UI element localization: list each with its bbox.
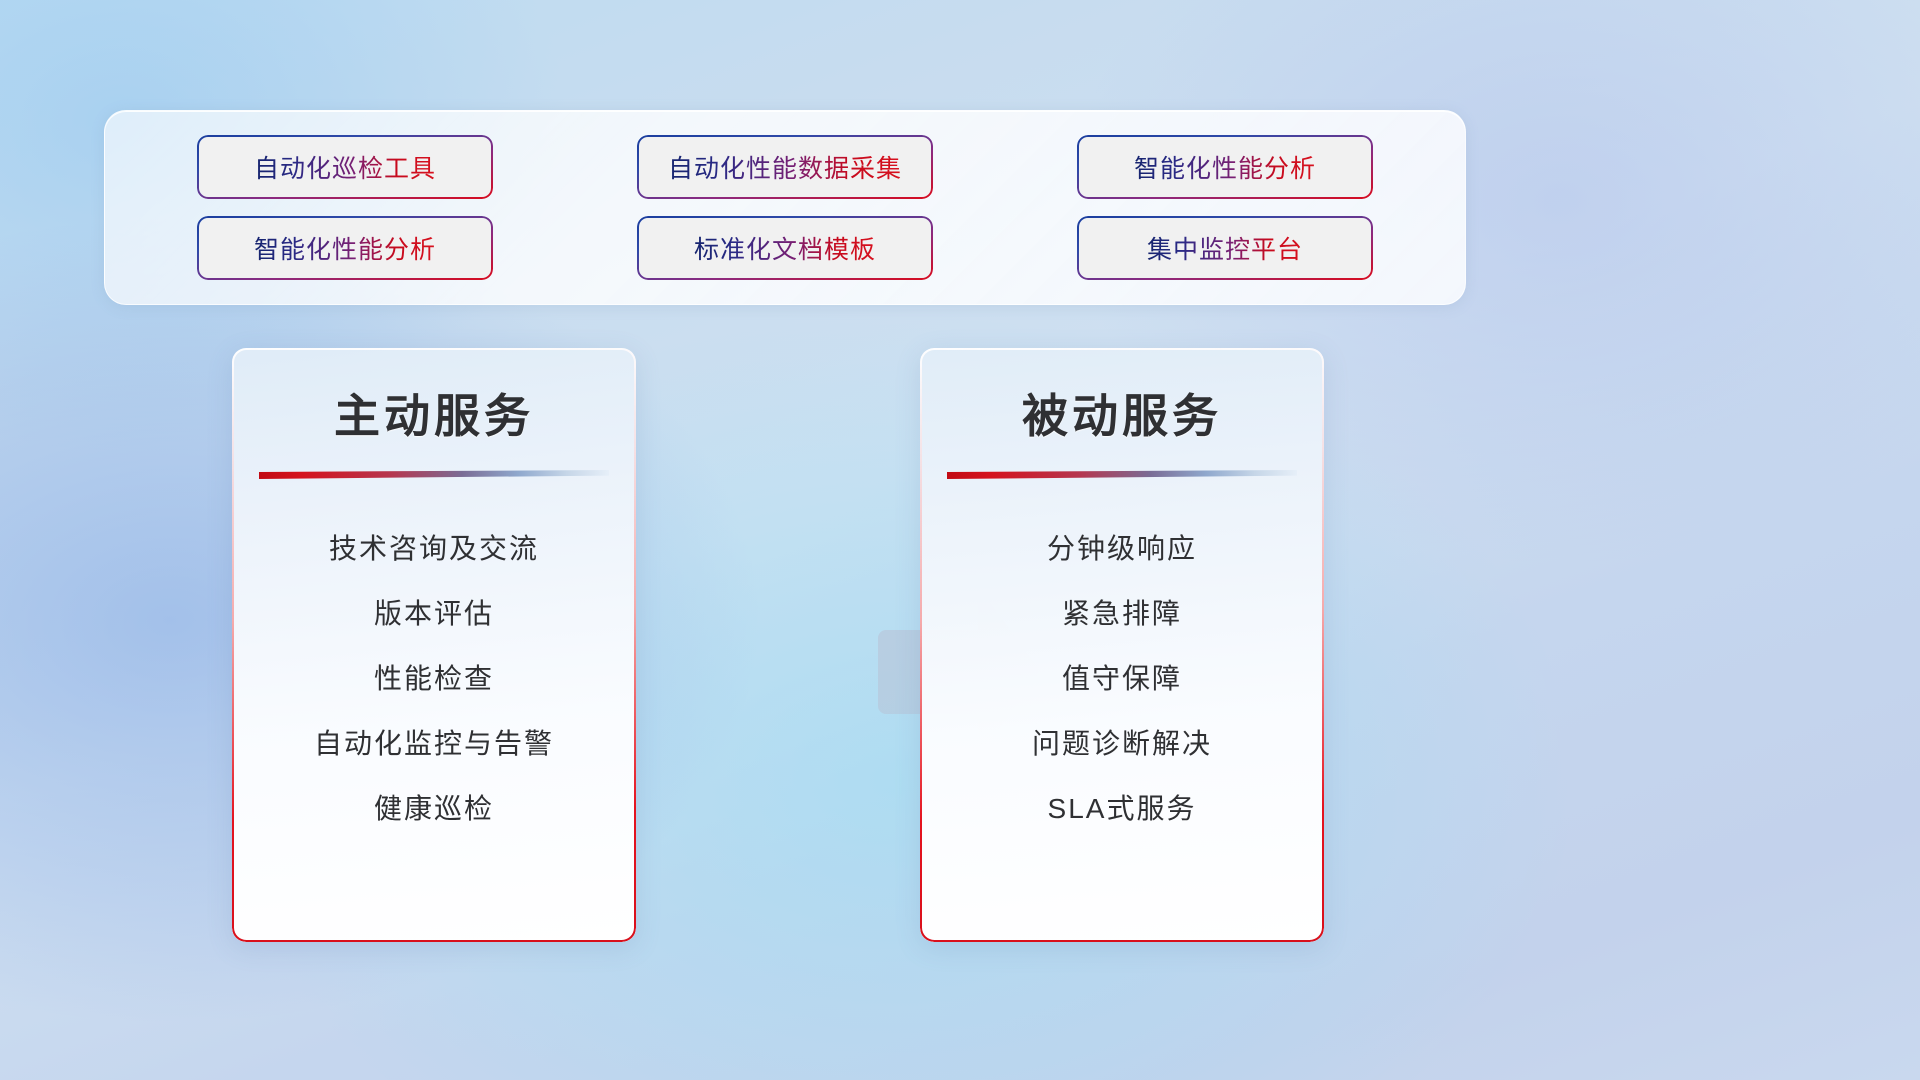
list-item: 技术咨询及交流 — [329, 527, 539, 567]
tag-button-2-label: 自动化性能数据采集 — [668, 149, 902, 185]
tag-button-4[interactable]: 智能化性能分析 — [199, 218, 491, 278]
card-passive-service-divider — [947, 470, 1297, 479]
card-active-service-title: 主动服务 — [232, 380, 636, 446]
list-item: 版本评估 — [374, 592, 494, 632]
list-item: 健康巡检 — [374, 787, 494, 827]
capability-tag-panel: 自动化巡检工具 自动化性能数据采集 智能化性能分析 智能化性能分析 标准化文档模… — [104, 110, 1466, 305]
tag-button-1-label: 自动化巡检工具 — [254, 149, 436, 185]
card-passive-service: 被动服务 分钟级响应 紧急排障 值守保障 问题诊断解决 SLA式服务 — [920, 348, 1324, 942]
tag-button-5-label: 标准化文档模板 — [694, 230, 876, 266]
tag-button-2[interactable]: 自动化性能数据采集 — [639, 137, 931, 197]
card-passive-service-title: 被动服务 — [920, 380, 1324, 446]
tag-button-4-label: 智能化性能分析 — [254, 230, 436, 266]
tag-button-5[interactable]: 标准化文档模板 — [639, 218, 931, 278]
list-item: 值守保障 — [1062, 657, 1182, 697]
tag-button-1[interactable]: 自动化巡检工具 — [199, 137, 491, 197]
tag-button-6[interactable]: 集中监控平台 — [1079, 218, 1371, 278]
list-item: 自动化监控与告警 — [314, 722, 554, 762]
card-active-service: 主动服务 技术咨询及交流 版本评估 性能检查 自动化监控与告警 健康巡检 — [232, 348, 636, 942]
tag-button-3-label: 智能化性能分析 — [1134, 149, 1316, 185]
card-active-service-divider — [259, 470, 609, 479]
list-item: 紧急排障 — [1062, 592, 1182, 632]
list-item: 分钟级响应 — [1047, 527, 1197, 567]
tag-button-6-label: 集中监控平台 — [1147, 230, 1303, 266]
list-item: 性能检查 — [374, 657, 494, 697]
list-item: 问题诊断解决 — [1032, 722, 1212, 762]
tag-button-3[interactable]: 智能化性能分析 — [1079, 137, 1371, 197]
card-active-service-list: 技术咨询及交流 版本评估 性能检查 自动化监控与告警 健康巡检 — [232, 527, 636, 827]
slide-canvas: 自动化巡检工具 自动化性能数据采集 智能化性能分析 智能化性能分析 标准化文档模… — [0, 0, 1920, 1080]
list-item: SLA式服务 — [1048, 787, 1197, 827]
card-passive-service-list: 分钟级响应 紧急排障 值守保障 问题诊断解决 SLA式服务 — [920, 527, 1324, 827]
